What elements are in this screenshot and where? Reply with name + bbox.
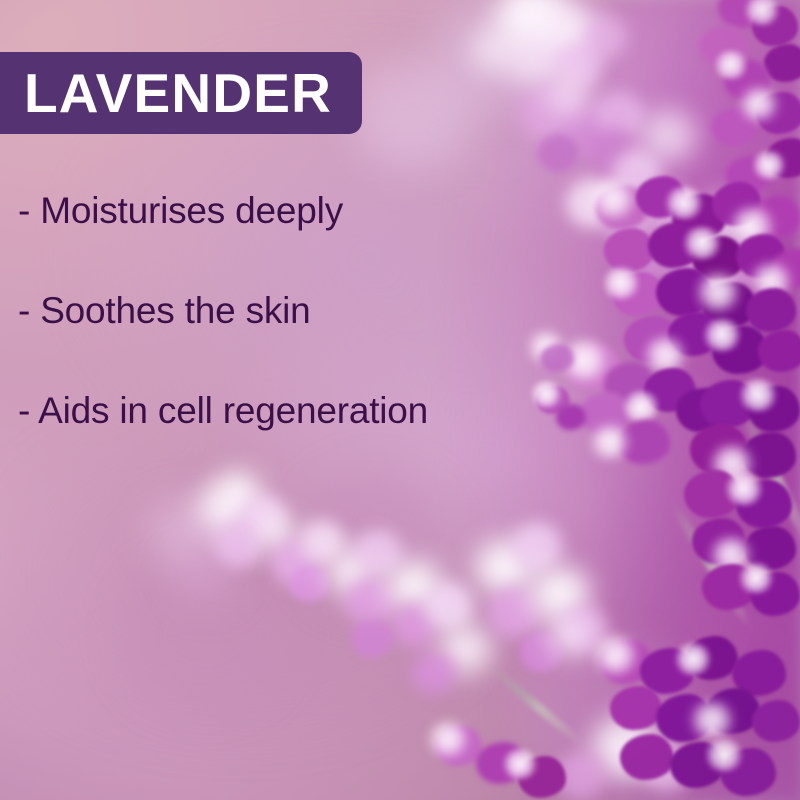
title-badge: LAVENDER <box>0 52 362 134</box>
page-title: LAVENDER <box>24 66 332 121</box>
poster-content: LAVENDER - Moisturises deeply - Soothes … <box>0 0 800 800</box>
list-item: - Soothes the skin <box>18 292 618 329</box>
lavender-benefits-poster: LAVENDER - Moisturises deeply - Soothes … <box>0 0 800 800</box>
benefits-list: - Moisturises deeply - Soothes the skin … <box>18 192 618 429</box>
list-item: - Moisturises deeply <box>18 192 618 229</box>
list-item: - Aids in cell regeneration <box>18 392 618 429</box>
